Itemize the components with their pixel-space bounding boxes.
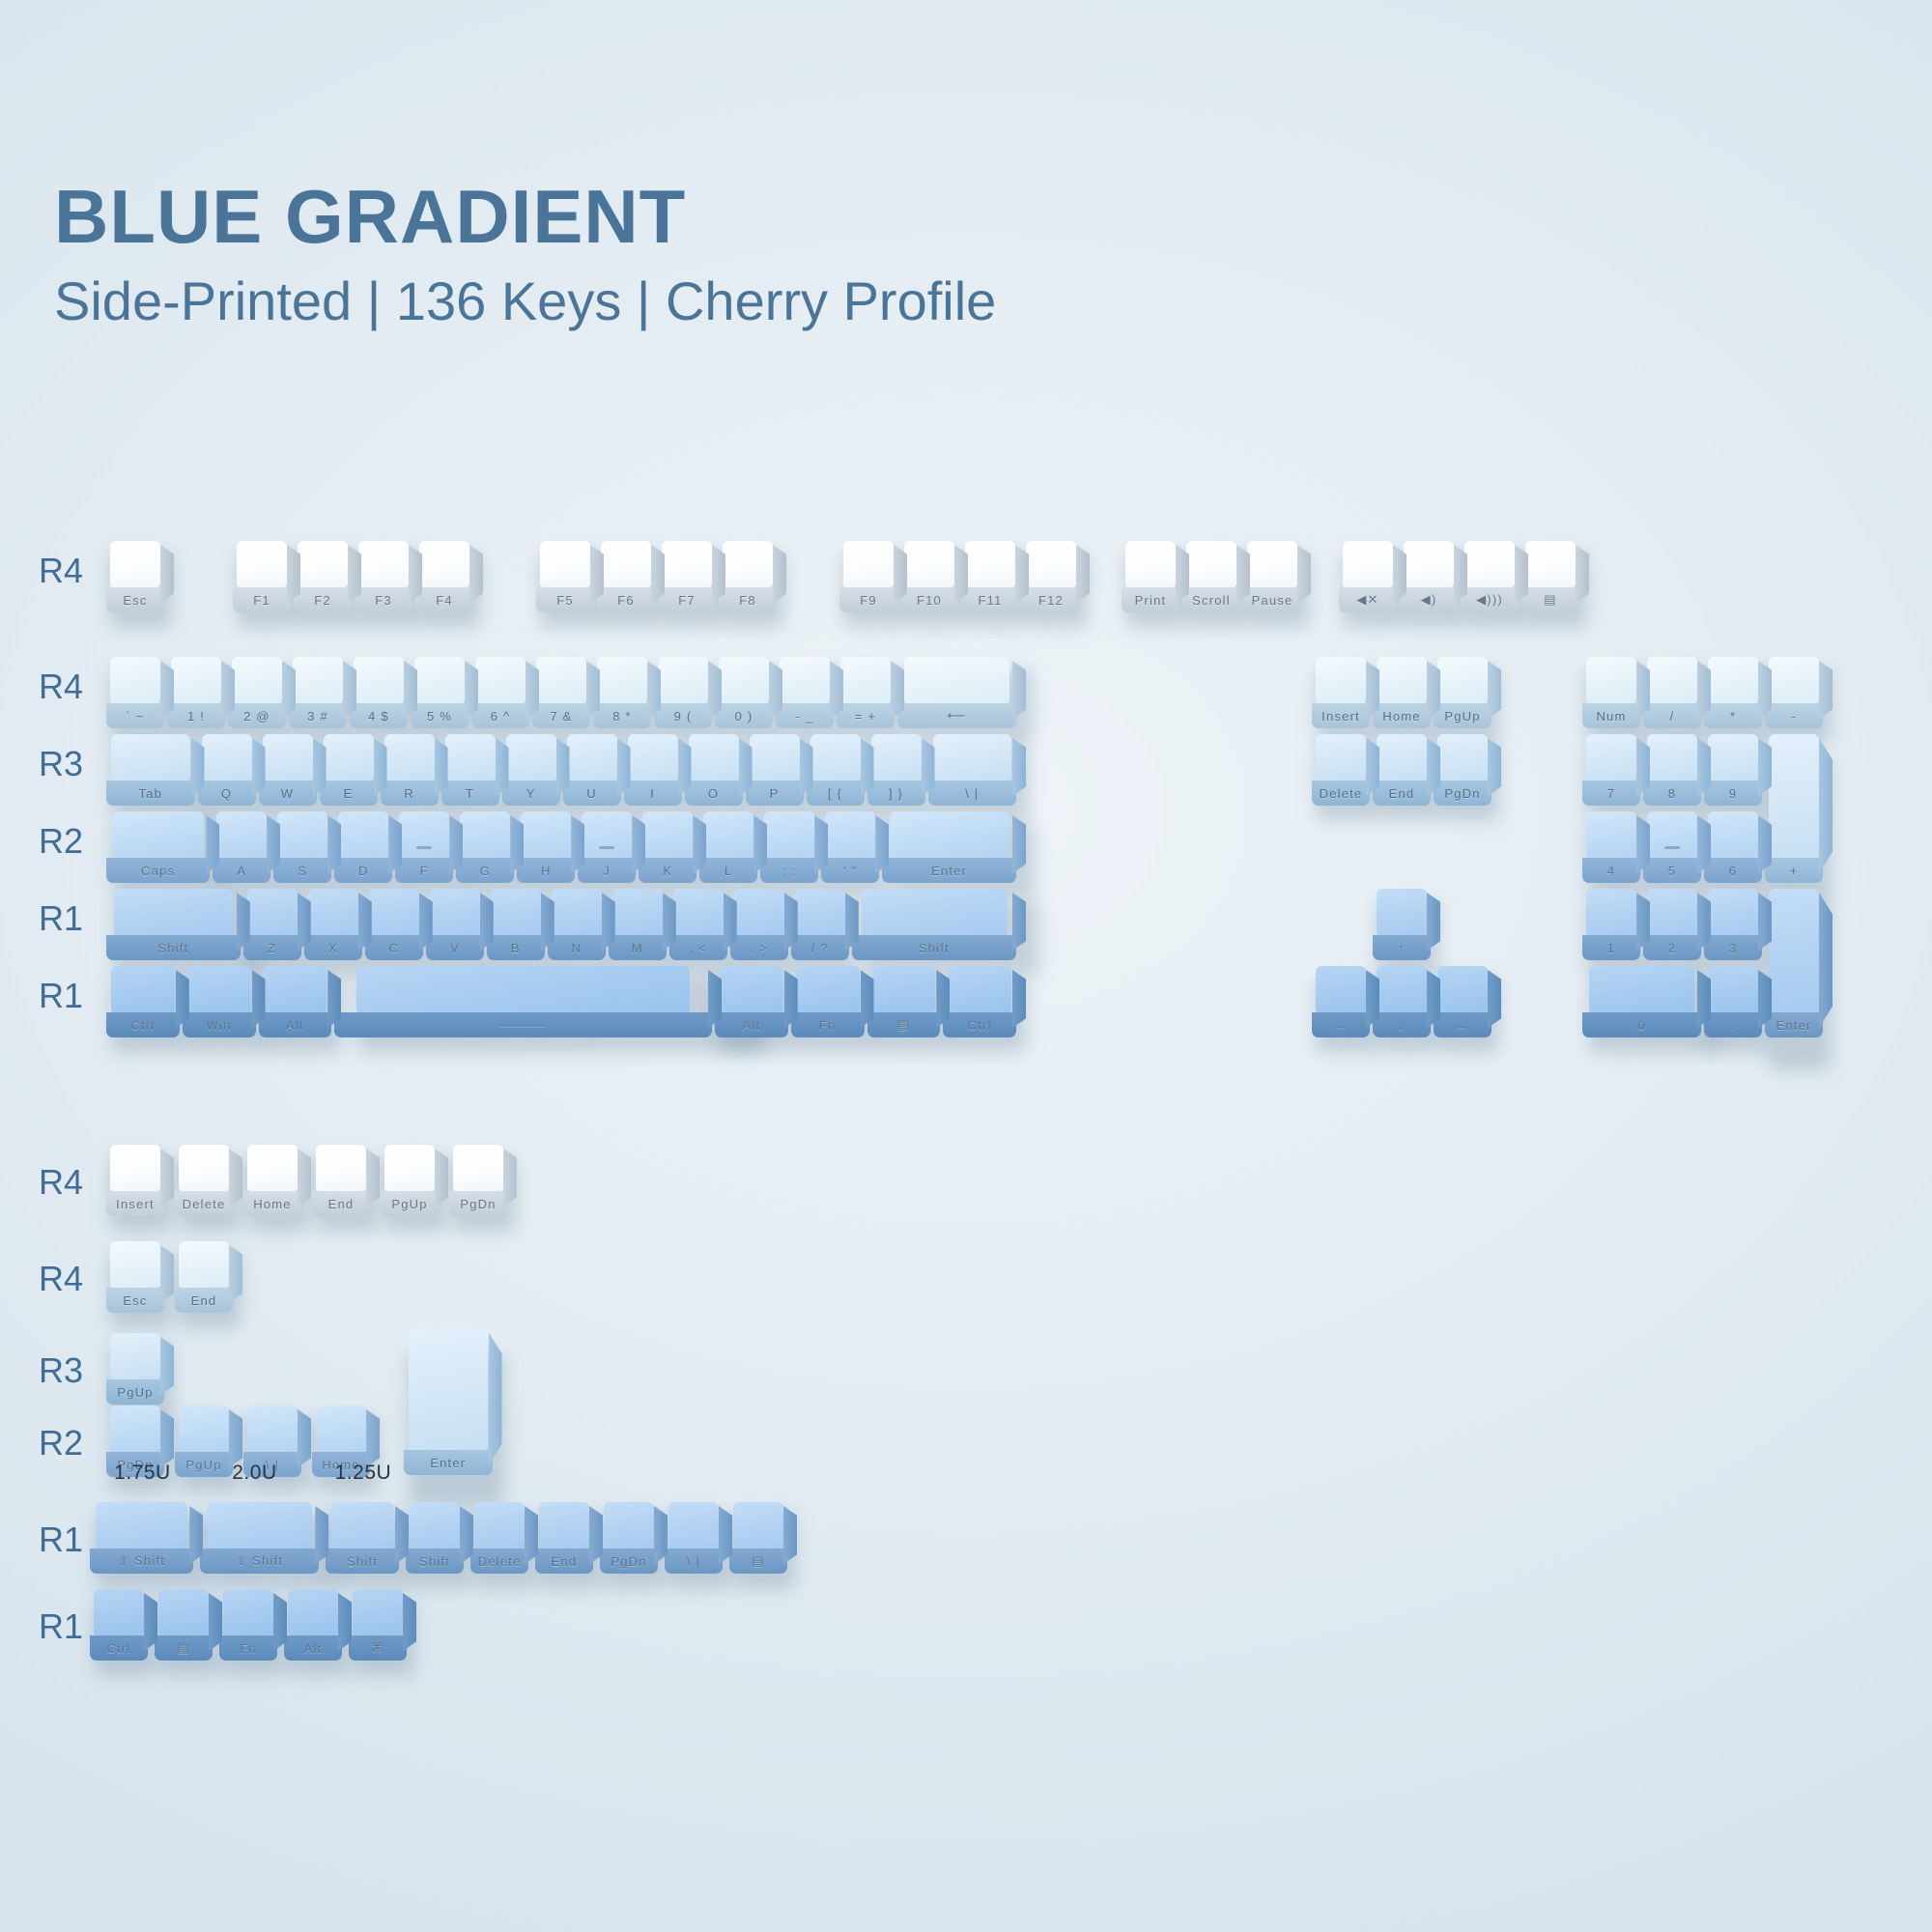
keycap-7[interactable]: 7	[1582, 734, 1640, 806]
keycap-legend: \ |	[928, 781, 1017, 806]
keycap-side-bevel	[1012, 738, 1026, 796]
keycap-top-surface	[1437, 657, 1488, 703]
keycap-side-bevel	[460, 1506, 473, 1564]
keycap-side-bevel	[1758, 970, 1772, 1028]
keycap-legend-menu-icon: ▤	[867, 1012, 941, 1037]
keycap-f12[interactable]: F12	[1022, 541, 1080, 612]
keycap-[interactable]: , <	[669, 889, 727, 960]
keycap-8[interactable]: 8 *	[593, 657, 651, 728]
keycap-legend: End	[312, 1191, 370, 1216]
keycap-top-surface	[1708, 811, 1758, 858]
keycap-body: 8	[1643, 734, 1701, 806]
keycap-legend-volume-down-icon: ◀)	[1400, 587, 1458, 612]
keycap-top-surface	[723, 541, 773, 587]
keycap-9[interactable]: 9	[1704, 734, 1762, 806]
keycap-top-surface	[308, 889, 358, 935]
keycap-delete[interactable]: Delete	[1312, 734, 1370, 806]
keycap-iso-enter[interactable]: Enter	[404, 1328, 493, 1475]
keycap-insert[interactable]: Insert	[106, 1145, 164, 1216]
keycap-scroll[interactable]: Scroll	[1182, 541, 1240, 612]
keycap-e[interactable]: E	[320, 734, 378, 806]
keycap-a[interactable]: A	[213, 811, 270, 883]
keycap-body: Shift	[106, 889, 241, 960]
keycap-legend: Alt	[259, 1012, 332, 1037]
keycap-end[interactable]: End	[1373, 734, 1431, 806]
keycap-fn[interactable]: Fn	[219, 1589, 277, 1661]
keycap-[interactable]: \ |	[665, 1502, 723, 1574]
keycap-[interactable]: ⌘	[349, 1589, 407, 1661]
keycap-body: Fn	[219, 1589, 277, 1661]
keycap-top-surface	[419, 541, 469, 587]
keycap-shift[interactable]: Shift	[852, 889, 1016, 960]
keycap-body: / ?	[791, 889, 849, 960]
keycap-body: 8 *	[593, 657, 651, 728]
keycap-pgdn[interactable]: PgDn	[1434, 734, 1492, 806]
keycap-side-bevel	[395, 1506, 409, 1564]
keycap-top-surface	[521, 811, 571, 858]
keycap-side-bevel	[712, 545, 725, 603]
keycap-9[interactable]: 9 (	[654, 657, 712, 728]
keycap-shift[interactable]: ⇧ Shift	[90, 1502, 193, 1574]
keycap-body: Alt	[284, 1589, 342, 1661]
keycap-top-surface	[720, 966, 783, 1012]
keycap-side-bevel	[419, 893, 433, 951]
keycap-z[interactable]: Z	[243, 889, 301, 960]
keycap-side-bevel	[1636, 815, 1650, 873]
keycap-pgup[interactable]: PgUp	[106, 1333, 164, 1405]
keycap-top-surface	[430, 889, 480, 935]
keycap-ctrl[interactable]: Ctrl	[90, 1589, 148, 1661]
keycap-end[interactable]: End	[535, 1502, 593, 1574]
keycap-4[interactable]: 4 $	[350, 657, 408, 728]
keycap-top-surface	[358, 541, 409, 587]
keycap-top-surface	[1377, 889, 1427, 935]
keycap-esc[interactable]: Esc	[106, 541, 164, 612]
keycap-0[interactable]: 0 )	[715, 657, 773, 728]
keycap-0[interactable]: 0	[1582, 966, 1701, 1037]
keycap-body: ▤	[155, 1589, 213, 1661]
keycap-f[interactable]: F	[395, 811, 453, 883]
keycap-body: F1	[233, 541, 291, 612]
keycap-top-surface	[840, 657, 891, 703]
keycap-x[interactable]: X	[304, 889, 362, 960]
keycap-top-surface	[862, 889, 1007, 935]
keycap-side-bevel	[1176, 545, 1189, 603]
keycap-body: Esc	[106, 541, 164, 612]
keycap-legend: 0 )	[715, 703, 773, 728]
keycap-pgup[interactable]: PgUp	[1434, 657, 1492, 728]
keycap-u[interactable]: U	[563, 734, 621, 806]
keycap-legend: K	[639, 858, 696, 883]
keycap-top-surface	[158, 1589, 209, 1635]
keycap-side-bevel	[1488, 970, 1501, 1028]
keycap-top-surface	[110, 1145, 160, 1191]
keycap-[interactable]: \ |	[928, 734, 1017, 806]
keycap-side-bevel	[1576, 545, 1589, 603]
keycap-side-bevel	[571, 815, 584, 873]
keycap-legend: Fn	[219, 1635, 277, 1661]
keycap-legend: /	[1643, 703, 1701, 728]
keycap-[interactable]: →	[1434, 966, 1492, 1037]
keycap-side-bevel	[282, 661, 296, 719]
keycap-caps[interactable]: Caps	[106, 811, 210, 883]
keycap-1[interactable]: 1	[1582, 889, 1640, 960]
keycap-top-surface	[1525, 541, 1576, 587]
keycap-alt[interactable]: Alt	[259, 966, 332, 1037]
keycap-body: H	[517, 811, 575, 883]
keycap-top-surface	[179, 1241, 229, 1288]
keycap-body: ] }	[867, 734, 925, 806]
keycap-legend: U	[563, 781, 621, 806]
keycap-g[interactable]: G	[456, 811, 514, 883]
keycap-body: Delete	[175, 1145, 233, 1216]
keycap-delete[interactable]: Delete	[175, 1145, 233, 1216]
keycap-f7[interactable]: F7	[658, 541, 716, 612]
keycap-side-bevel	[891, 661, 904, 719]
keycap-pause[interactable]: Pause	[1243, 541, 1301, 612]
keycap-5[interactable]: 5 %	[411, 657, 469, 728]
keycap-7[interactable]: 7 &	[532, 657, 590, 728]
keycap-top-surface	[1647, 734, 1697, 781]
keycap-legend: H	[517, 858, 575, 883]
keycap-legend-backspace-icon: ⟵	[897, 703, 1016, 728]
keycap-2[interactable]: 2 @	[228, 657, 286, 728]
keycap-home[interactable]: Home	[243, 1145, 301, 1216]
keycap-end[interactable]: End	[175, 1241, 233, 1313]
row-label-r3: R3	[39, 744, 116, 784]
keycap-side-bevel	[298, 1149, 311, 1207]
keycap-shift[interactable]: Shift	[406, 1502, 464, 1574]
keycap-legend: ⇧ Shift	[90, 1548, 193, 1574]
keycap-enter[interactable]: Enter	[882, 811, 1016, 883]
keycap-f6[interactable]: F6	[597, 541, 655, 612]
keycap-[interactable]: ' "	[821, 811, 879, 883]
keycap-legend: *	[1704, 703, 1762, 728]
keycap-body: ↑	[1373, 889, 1431, 960]
keycap-[interactable]: ◀)))	[1461, 541, 1519, 612]
keycap-body: V	[426, 889, 484, 960]
keycap-side-bevel	[287, 545, 300, 603]
keycap-r[interactable]: R	[381, 734, 439, 806]
keycap-body: Win	[183, 966, 256, 1037]
keycap-y[interactable]: Y	[502, 734, 560, 806]
keycap-legend: B	[487, 935, 545, 960]
keycap-2[interactable]: 2	[1643, 889, 1701, 960]
keycap-insert[interactable]: Insert	[1312, 657, 1370, 728]
keycap-top-surface	[1708, 966, 1758, 1012]
keycap-side-bevel	[221, 661, 235, 719]
keycap-legend: Alt	[284, 1635, 342, 1661]
keycap-1[interactable]: 1 !	[167, 657, 225, 728]
keycap-body: 6 ^	[471, 657, 529, 728]
keycap-f3[interactable]: F3	[355, 541, 412, 612]
keycap-t[interactable]: T	[441, 734, 499, 806]
keycap-side-bevel	[496, 738, 509, 796]
keycap-alt[interactable]: Alt	[715, 966, 788, 1037]
keycap-n[interactable]: N	[548, 889, 606, 960]
keycap-side-bevel	[358, 893, 372, 951]
keycap-body: 9 (	[654, 657, 712, 728]
keycap-body: 7 &	[532, 657, 590, 728]
keycap-[interactable]: ⟵	[897, 657, 1016, 728]
keycap-top-surface	[330, 1502, 394, 1548]
keycap-legend: R	[381, 781, 439, 806]
keycap-v[interactable]: V	[426, 889, 484, 960]
keycap-legend: 5	[1643, 858, 1701, 883]
keycap-legend: PgUp	[106, 1379, 164, 1405]
keycap-side-bevel	[922, 738, 935, 796]
keycap-d[interactable]: D	[334, 811, 392, 883]
keycap-f8[interactable]: F8	[719, 541, 777, 612]
keycap-o[interactable]: O	[685, 734, 743, 806]
keycap-top-surface	[1316, 657, 1366, 703]
keycap-win[interactable]: Win	[183, 966, 256, 1037]
keycap-side-bevel	[1012, 815, 1026, 873]
keycap-[interactable]: +	[1765, 734, 1823, 883]
keycap-body: Enter	[1765, 889, 1823, 1037]
keycap-f11[interactable]: F11	[961, 541, 1019, 612]
keycap-top-surface	[96, 1502, 187, 1548]
keycap-[interactable]: - _	[776, 657, 834, 728]
keycap-[interactable]: . >	[730, 889, 788, 960]
keycap-legend: P	[746, 781, 804, 806]
keycap-top-surface	[179, 1145, 229, 1191]
keycap-legend: PgDn	[449, 1191, 507, 1216]
keycap-legend: ; :	[760, 858, 818, 883]
keycap-top-surface	[1708, 657, 1758, 703]
keycap-[interactable]: ▤	[729, 1502, 787, 1574]
keycap-p[interactable]: P	[746, 734, 804, 806]
keycap-top-surface	[207, 1502, 312, 1548]
keycap-side-bevel	[435, 1149, 448, 1207]
keycap-s[interactable]: S	[273, 811, 331, 883]
keycap-top-surface	[1769, 657, 1819, 703]
keycap-f9[interactable]: F9	[839, 541, 897, 612]
keycap-side-bevel	[861, 970, 874, 1028]
keycap-top-surface	[399, 811, 449, 858]
keycap-pgdn[interactable]: PgDn	[600, 1502, 658, 1574]
keycap-side-bevel	[1819, 661, 1833, 719]
keycap-f2[interactable]: F2	[294, 541, 352, 612]
keycap-[interactable]: -	[1765, 657, 1823, 728]
keycap-side-bevel	[753, 815, 767, 873]
keycap-side-bevel	[480, 893, 494, 951]
keycap-legend: 2	[1643, 935, 1701, 960]
keycap-side-bevel	[719, 1506, 732, 1564]
keycap-f10[interactable]: F10	[900, 541, 958, 612]
keycap-[interactable]: ` ~	[106, 657, 164, 728]
keycap-body: Print	[1122, 541, 1179, 612]
keycap-top-surface	[582, 811, 632, 858]
keycap-body: D	[334, 811, 392, 883]
keycap-shift[interactable]: Shift	[106, 889, 241, 960]
keycap-j[interactable]: J	[578, 811, 636, 883]
keycap-legend: E	[320, 781, 378, 806]
keycap-legend: 5 %	[411, 703, 469, 728]
keycap-top-surface	[539, 1502, 589, 1548]
keycap-legend: 6	[1704, 858, 1762, 883]
keycap-legend: Ctrl	[90, 1635, 148, 1661]
keycap-body: ◀)))	[1461, 541, 1519, 612]
keycap-b[interactable]: B	[487, 889, 545, 960]
keycap-top-surface	[904, 657, 1009, 703]
keycap-legend-calculator-icon: ▤	[1521, 587, 1579, 612]
keycap-side-bevel	[252, 970, 266, 1028]
keycap-w[interactable]: W	[259, 734, 317, 806]
keycap-legend-arrow-up-icon: ↑	[1373, 935, 1431, 960]
keycap-esc[interactable]: Esc	[106, 1241, 164, 1313]
keycap-home[interactable]: Home	[1373, 657, 1431, 728]
keycap-top-surface	[1377, 734, 1427, 781]
keycap-side-bevel	[602, 893, 615, 951]
keycap-top-surface	[552, 889, 602, 935]
keycap-side-bevel	[830, 661, 843, 719]
keycap-body: End	[1373, 734, 1431, 806]
keycap-body: ⟵	[897, 657, 1016, 728]
keycap-side-bevel	[954, 545, 968, 603]
keycap-pgup[interactable]: PgUp	[175, 1406, 233, 1477]
keycap-5[interactable]: 5	[1643, 811, 1701, 883]
keycap-side-bevel	[267, 815, 280, 873]
keycap-side-bevel	[338, 1593, 352, 1651]
keycap-print[interactable]: Print	[1122, 541, 1179, 612]
keycap-3[interactable]: 3	[1704, 889, 1762, 960]
keycap-m[interactable]: M	[609, 889, 667, 960]
keycap-6[interactable]: 6 ^	[471, 657, 529, 728]
keycap-ctrl[interactable]: Ctrl	[106, 966, 180, 1037]
keycap-[interactable]: ▤	[155, 1589, 213, 1661]
keycap-body: Enter	[404, 1328, 493, 1475]
keycap-[interactable]: ↑	[1373, 889, 1431, 960]
keycap-k[interactable]: K	[639, 811, 696, 883]
keycap-top-surface	[474, 1502, 525, 1548]
keycap-[interactable]: ◀)	[1400, 541, 1458, 612]
keycap-top-surface	[750, 734, 800, 781]
keycap-delete[interactable]: Delete	[470, 1502, 528, 1574]
keycap-shift[interactable]: Shift	[326, 1502, 399, 1574]
keycap-f5[interactable]: F5	[536, 541, 594, 612]
keycap-legend-mute-icon: ◀✕	[1339, 587, 1397, 612]
keycap-side-bevel	[1697, 893, 1711, 951]
keycap-f4[interactable]: F4	[415, 541, 473, 612]
keycap-side-bevel	[783, 1506, 797, 1564]
keycap-legend: A	[213, 858, 270, 883]
keycap-ctrl[interactable]: Ctrl	[943, 966, 1016, 1037]
keycap-side-bevel	[769, 661, 782, 719]
keycap-[interactable]: ←	[1312, 966, 1370, 1037]
keycap-q[interactable]: Q	[198, 734, 256, 806]
keycap-legend: Enter	[404, 1450, 493, 1475]
keycap-[interactable]: *	[1704, 657, 1762, 728]
keycap-f1[interactable]: F1	[233, 541, 291, 612]
keycap-top-surface	[114, 889, 233, 935]
keycap-top-surface	[1026, 541, 1076, 587]
keycap-end[interactable]: End	[312, 1145, 370, 1216]
keycap-[interactable]: /	[1643, 657, 1701, 728]
keycap-side-bevel	[366, 1149, 380, 1207]
keycap-top-surface	[288, 1589, 338, 1635]
keycap-side-bevel	[617, 738, 631, 796]
keycap-[interactable]: ▤	[867, 966, 941, 1037]
keycap-side-bevel	[1697, 815, 1711, 873]
keycap-[interactable]: ] }	[867, 734, 925, 806]
keycap-legend: Enter	[1765, 1012, 1823, 1037]
keycap-side-bevel	[1012, 970, 1026, 1028]
keycap-top-surface	[1708, 734, 1758, 781]
keycap-top-surface	[202, 734, 252, 781]
keycap-h[interactable]: H	[517, 811, 575, 883]
keycap-enter[interactable]: Enter	[1765, 889, 1823, 1037]
keycap-[interactable]: ↓	[1373, 966, 1431, 1037]
keycap-legend: Delete	[1312, 781, 1370, 806]
keycap-[interactable]: ————	[334, 966, 712, 1037]
keycap-[interactable]: / ?	[791, 889, 849, 960]
keycap-[interactable]: = +	[837, 657, 895, 728]
keycap-legend: D	[334, 858, 392, 883]
keycap-body: 1 !	[167, 657, 225, 728]
keycap-l[interactable]: L	[699, 811, 757, 883]
keycap-top-surface	[369, 889, 419, 935]
keycap-legend: 3	[1704, 935, 1762, 960]
keycap-legend-arrow-right-icon: →	[1434, 1012, 1492, 1037]
keycap-legend: Ctrl	[106, 1012, 180, 1037]
keycap-pgup[interactable]: PgUp	[381, 1145, 439, 1216]
keycap-side-bevel	[510, 815, 524, 873]
keycap-side-bevel	[1488, 661, 1501, 719]
keycap-[interactable]: ◀✕	[1339, 541, 1397, 612]
keycap-top-surface	[94, 1589, 144, 1635]
keycap-i[interactable]: I	[624, 734, 682, 806]
keycap-legend: Shift	[106, 935, 241, 960]
keycap-body: Insert	[1312, 657, 1370, 728]
keycap-6[interactable]: 6	[1704, 811, 1762, 883]
keycap-pgdn[interactable]: PgDn	[449, 1145, 507, 1216]
keycap-body: F11	[961, 541, 1019, 612]
keycap-tab[interactable]: Tab	[106, 734, 195, 806]
keycap-3[interactable]: 3 #	[289, 657, 347, 728]
keycap-legend: I	[624, 781, 682, 806]
keycap-top-surface	[1586, 734, 1636, 781]
keycap-legend: Tab	[106, 781, 195, 806]
keycap-body: 7	[1582, 734, 1640, 806]
keycap-alt[interactable]: Alt	[284, 1589, 342, 1661]
keycap-body: PgDn	[1434, 734, 1492, 806]
keycap-[interactable]: ; :	[760, 811, 818, 883]
keycap-legend: F1	[233, 587, 291, 612]
keycap-side-bevel	[315, 1506, 328, 1564]
keycap-top-surface	[356, 966, 690, 1012]
keycap-[interactable]: ▤	[1521, 541, 1579, 612]
keycap-side-bevel	[541, 893, 554, 951]
keycap-num[interactable]: Num	[1582, 657, 1640, 728]
keycap-top-surface	[843, 541, 894, 587]
keycap-legend: 8	[1643, 781, 1701, 806]
keycap-body: End	[312, 1145, 370, 1216]
keycap-body: Tab	[106, 734, 195, 806]
keycap-fn[interactable]: Fn	[791, 966, 865, 1037]
keycap-top-surface	[384, 734, 435, 781]
keycap-side-bevel	[773, 545, 786, 603]
keycap-top-surface	[460, 811, 510, 858]
keycap-4[interactable]: 4	[1582, 811, 1640, 883]
keycap-shift[interactable]: ⇧ Shift	[200, 1502, 319, 1574]
keycap-[interactable]: [ {	[807, 734, 865, 806]
keycap-body: G	[456, 811, 514, 883]
keycap-[interactable]: .	[1704, 966, 1762, 1037]
keycap-c[interactable]: C	[365, 889, 423, 960]
keycap-top-surface	[1586, 657, 1636, 703]
keycap-8[interactable]: 8	[1643, 734, 1701, 806]
